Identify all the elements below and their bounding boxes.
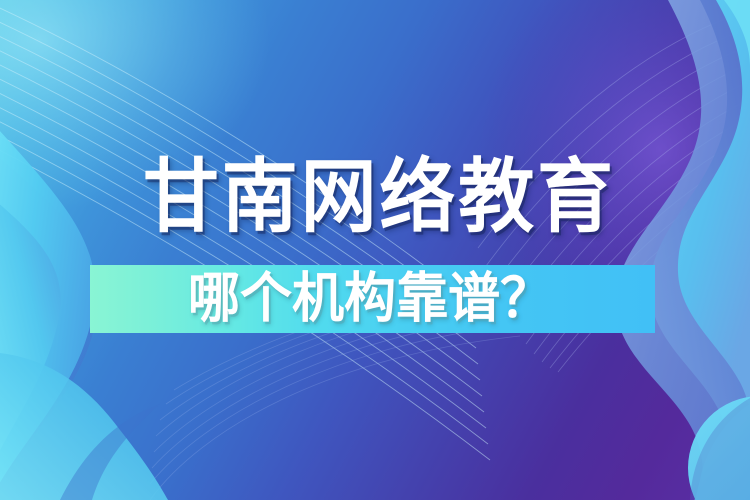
headline-char: 甘 xyxy=(143,155,219,242)
subtitle-char: 机 xyxy=(292,266,344,333)
subtitle-char: 谱 xyxy=(448,266,500,333)
headline-char: 育 xyxy=(537,155,613,242)
subtitle-char: 哪 xyxy=(188,266,240,333)
headline-char: 络 xyxy=(379,155,455,242)
headline-char: 网 xyxy=(301,155,377,242)
subtitle-char: 个 xyxy=(240,266,292,333)
subtitle-char: 构 xyxy=(344,266,396,333)
promo-banner: 甘 南 网 络 教 育 哪 个 机 构 靠 谱 ？ xyxy=(0,0,750,500)
subtitle-char: 靠 xyxy=(396,266,448,333)
banner-headline: 甘 南 网 络 教 育 xyxy=(143,157,613,239)
headline-char: 南 xyxy=(222,155,298,242)
banner-content: 甘 南 网 络 教 育 哪 个 机 构 靠 谱 ？ xyxy=(0,0,750,500)
subtitle-char: ？ xyxy=(500,266,552,333)
headline-char: 教 xyxy=(458,155,534,242)
banner-subtitle: 哪 个 机 构 靠 谱 ？ xyxy=(188,267,550,331)
